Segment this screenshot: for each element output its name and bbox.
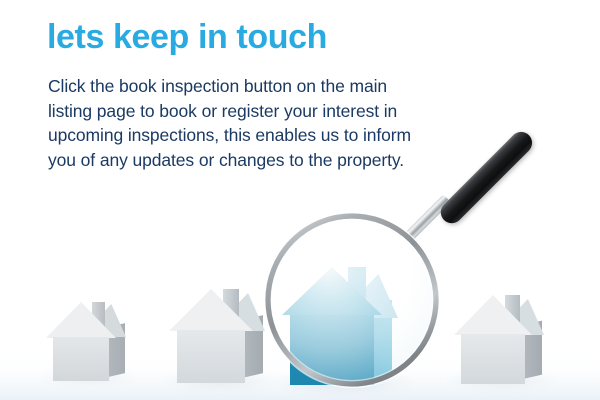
banner-canvas: lets keep in touch Click the book inspec… — [0, 0, 600, 400]
body-line: you of any updates or changes to the pro… — [48, 148, 448, 173]
magnifying-glass-icon — [0, 0, 600, 400]
lens-rim — [0, 0, 600, 400]
body-line: upcoming inspections, this enables us to… — [48, 123, 448, 148]
body-line: listing page to book or register your in… — [48, 99, 448, 124]
body-line: Click the book inspection button on the … — [48, 74, 448, 99]
body-copy: Click the book inspection button on the … — [48, 74, 448, 172]
page-title: lets keep in touch — [47, 17, 327, 57]
